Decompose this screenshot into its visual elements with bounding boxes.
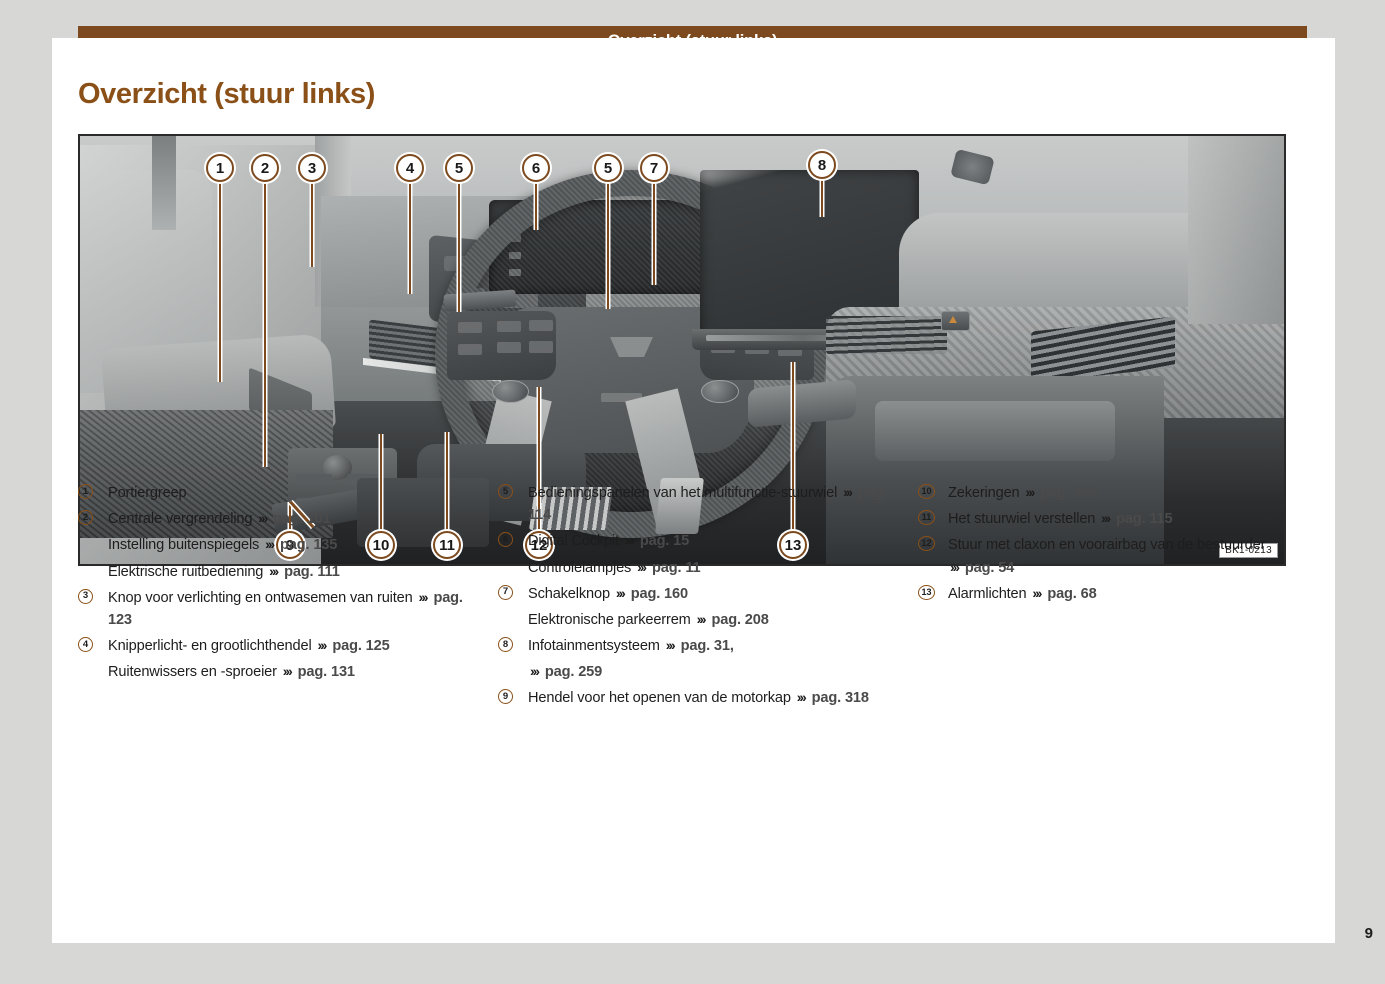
page-reference[interactable]: pag. 15 xyxy=(640,533,689,549)
reference-arrows-icon: ››› xyxy=(256,510,269,526)
legend-list: 1Portiergreep 2Centrale vergrendeling ››… xyxy=(78,482,1286,802)
legend-item-text: Het stuurwiel verstellen ››› pag. 115 xyxy=(948,508,1286,530)
reference-arrows-icon: ››› xyxy=(695,611,708,627)
console-storage xyxy=(875,401,1116,461)
page-reference[interactable]: pag. 125 xyxy=(332,638,389,654)
legend-number-circle-2: 2 xyxy=(78,510,93,525)
page-reference[interactable]: pag. 114 xyxy=(528,485,887,523)
legend-item: 11Het stuurwiel verstellen ››› pag. 115 xyxy=(918,508,1286,530)
mfsw-key-icon xyxy=(529,320,553,331)
passenger-vent-small xyxy=(826,316,946,355)
page-number: 9 xyxy=(1365,925,1373,942)
legend-item: 2Centrale vergrendeling ››› pag. 101 xyxy=(78,508,498,530)
callout-marker-2: 2 xyxy=(251,154,279,182)
legend-number-circle-6: 6 xyxy=(498,532,513,547)
legend-item-text: Stuur met claxon en voorairbag van de be… xyxy=(948,534,1286,578)
page-reference[interactable]: pag. 101 xyxy=(273,511,330,527)
page-title: Overzicht (stuur links) xyxy=(78,78,375,111)
mfsw-key-icon xyxy=(497,342,521,353)
legend-item: 9Hendel voor het openen van de motorkap … xyxy=(498,687,918,709)
legend-item-text: Infotainmentsysteem ››› pag. 31, xyxy=(528,635,918,657)
legend-number-circle-10: 10 xyxy=(918,484,935,499)
legend-item-text: Knop voor verlichting en ontwasemen van … xyxy=(108,587,498,631)
legend-item-subline: Elektronische parkeerrem ››› pag. 208 xyxy=(528,609,918,631)
page-reference[interactable]: pag. 131 xyxy=(298,664,355,680)
legend-item-number: 6 xyxy=(498,530,528,552)
legend-number-circle-11: 11 xyxy=(918,510,935,525)
legend-item-number: 12 xyxy=(918,534,948,578)
legend-item-text: Hendel voor het openen van de motorkap ›… xyxy=(528,687,918,709)
legend-item: 7Schakelknop ››› pag. 160 xyxy=(498,583,918,605)
reference-arrows-icon: ››› xyxy=(417,589,430,605)
mfsw-key-icon xyxy=(529,341,553,352)
legend-number-circle-13: 13 xyxy=(918,585,935,600)
reference-arrows-icon: ››› xyxy=(623,532,636,548)
reference-arrows-icon: ››› xyxy=(664,637,677,653)
callout-leader-line xyxy=(311,183,314,267)
reference-arrows-icon: ››› xyxy=(1099,510,1112,526)
page-reference[interactable]: pag. 309 xyxy=(1040,485,1097,501)
page-sheet: Overzicht (stuur links) xyxy=(52,38,1335,943)
legend-item-text: Schakelknop ››› pag. 160 xyxy=(528,583,918,605)
page-reference[interactable]: pag. 68 xyxy=(1047,586,1096,602)
callout-marker-8: 8 xyxy=(808,151,836,179)
legend-item-text: Zekeringen ››› pag. 309 xyxy=(948,482,1286,504)
callout-leader-line xyxy=(458,183,461,312)
mfsw-key-icon xyxy=(458,322,482,333)
legend-item-number: 3 xyxy=(78,587,108,631)
callout-leader-line xyxy=(607,183,610,309)
legend-number-circle-4: 4 xyxy=(78,637,93,652)
reference-arrows-icon: ››› xyxy=(795,689,808,705)
page-reference[interactable]: pag. 11 xyxy=(652,560,700,576)
reference-arrows-icon: ››› xyxy=(315,637,328,653)
reference-arrows-icon: ››› xyxy=(841,484,854,500)
legend-number-circle-7: 7 xyxy=(498,585,513,600)
legend-item: 6Digital Cockpit ››› pag. 15 xyxy=(498,530,918,552)
legend-item: 3Knop voor verlichting en ontwasemen van… xyxy=(78,587,498,631)
callout-marker-4: 4 xyxy=(396,154,424,182)
legend-item: 1Portiergreep xyxy=(78,482,498,504)
legend-item-number: 10 xyxy=(918,482,948,504)
legend-item-number: 11 xyxy=(918,508,948,530)
legend-column-3: 10Zekeringen ››› pag. 30911Het stuurwiel… xyxy=(918,482,1286,802)
legend-item-number: 2 xyxy=(78,508,108,530)
legend-item-number: 8 xyxy=(498,635,528,657)
callout-marker-1: 1 xyxy=(206,154,234,182)
reference-arrows-icon: ››› xyxy=(1023,484,1036,500)
legend-number-circle-8: 8 xyxy=(498,637,513,652)
cupra-logo-icon xyxy=(610,337,653,369)
legend-item-subline: Elektrische ruitbediening ››› pag. 111 xyxy=(108,561,498,583)
legend-number-circle-9: 9 xyxy=(498,689,513,704)
legend-number-circle-3: 3 xyxy=(78,589,93,604)
legend-item-number: 9 xyxy=(498,687,528,709)
window-edge xyxy=(152,136,176,230)
legend-number-circle-5: 5 xyxy=(498,484,513,499)
legend-item-subline: Ruitenwissers en -sproeier ››› pag. 131 xyxy=(108,661,498,683)
mfsw-key-icon xyxy=(458,344,482,355)
callout-leader-line xyxy=(409,183,412,294)
a-pillar-right xyxy=(1188,136,1284,324)
callout-leader-line xyxy=(264,183,267,467)
page-reference[interactable]: pag. 123 xyxy=(108,590,463,628)
legend-item: 8Infotainmentsysteem ››› pag. 31, xyxy=(498,635,918,657)
legend-item-text: Portiergreep xyxy=(108,482,498,504)
callout-leader-line xyxy=(219,183,222,382)
callout-marker-7: 7 xyxy=(640,154,668,182)
legend-item: 12Stuur met claxon en voorairbag van de … xyxy=(918,534,1286,578)
page-reference[interactable]: pag. 160 xyxy=(631,586,688,602)
page-reference[interactable]: pag. 135 xyxy=(280,537,337,553)
callout-leader-line xyxy=(653,183,656,285)
legend-item-number: 7 xyxy=(498,583,528,605)
legend-item-text: Alarmlichten ››› pag. 68 xyxy=(948,583,1286,605)
page-reference[interactable]: pag. 111 xyxy=(284,564,340,580)
cupra-mode-button-icon xyxy=(701,380,738,404)
legend-item-text: Centrale vergrendeling ››› pag. 101 xyxy=(108,508,498,530)
legend-item-text: Bedieningspanelen van het multifunctie-s… xyxy=(528,482,918,526)
callout-marker-6: 6 xyxy=(522,154,550,182)
legend-item-number: 4 xyxy=(78,635,108,657)
reference-arrows-icon: ››› xyxy=(635,559,648,575)
legend-item-subline: ››› pag. 259 xyxy=(528,661,918,683)
page-reference[interactable]: pag. 31, xyxy=(681,638,734,654)
reference-arrows-icon: ››› xyxy=(1030,585,1043,601)
page-reference[interactable]: pag. 259 xyxy=(545,664,602,680)
page-reference[interactable]: pag. 115 xyxy=(1116,511,1172,527)
callout-leader-line xyxy=(821,180,824,217)
legend-item-number: 5 xyxy=(498,482,528,526)
reference-arrows-icon: ››› xyxy=(263,536,276,552)
page-reference[interactable]: pag. 318 xyxy=(812,690,869,706)
reference-arrows-icon: ››› xyxy=(267,563,280,579)
legend-item-number: 13 xyxy=(918,583,948,605)
page-reference[interactable]: pag. 208 xyxy=(712,612,769,628)
callout-marker-5: 5 xyxy=(594,154,622,182)
reference-arrows-icon: ››› xyxy=(614,585,627,601)
legend-item: 13Alarmlichten ››› pag. 68 xyxy=(918,583,1286,605)
reference-arrows-icon: ››› xyxy=(281,663,294,679)
legend-column-1: 1Portiergreep 2Centrale vergrendeling ››… xyxy=(78,482,498,802)
callout-marker-5: 5 xyxy=(445,154,473,182)
legend-column-2: 5Bedieningspanelen van het multifunctie-… xyxy=(498,482,918,802)
reference-arrows-icon: ››› xyxy=(528,663,541,679)
legend-number-circle-12: 12 xyxy=(918,536,935,551)
legend-item-text: Digital Cockpit ››› pag. 15 xyxy=(528,530,918,552)
callout-leader-line xyxy=(535,183,538,230)
reference-arrows-icon: ››› xyxy=(948,559,961,575)
legend-number-circle-1: 1 xyxy=(78,484,93,499)
page-reference[interactable]: pag. 54 xyxy=(965,560,1014,576)
legend-item: 4Knipperlicht- en grootlichthendel ››› p… xyxy=(78,635,498,657)
hazard-triangle-icon xyxy=(949,316,957,323)
callout-marker-3: 3 xyxy=(298,154,326,182)
legend-item-subline: Controlelampjes ››› pag. 11 xyxy=(528,557,918,579)
legend-item: 10Zekeringen ››› pag. 309 xyxy=(918,482,1286,504)
legend-item-number: 1 xyxy=(78,482,108,504)
legend-item-text: Knipperlicht- en grootlichthendel ››› pa… xyxy=(108,635,498,657)
mfsw-key-icon xyxy=(497,321,521,332)
legend-item-subline: Instelling buitenspiegels ››› pag. 135 xyxy=(108,534,498,556)
legend-item: 5Bedieningspanelen van het multifunctie-… xyxy=(498,482,918,526)
